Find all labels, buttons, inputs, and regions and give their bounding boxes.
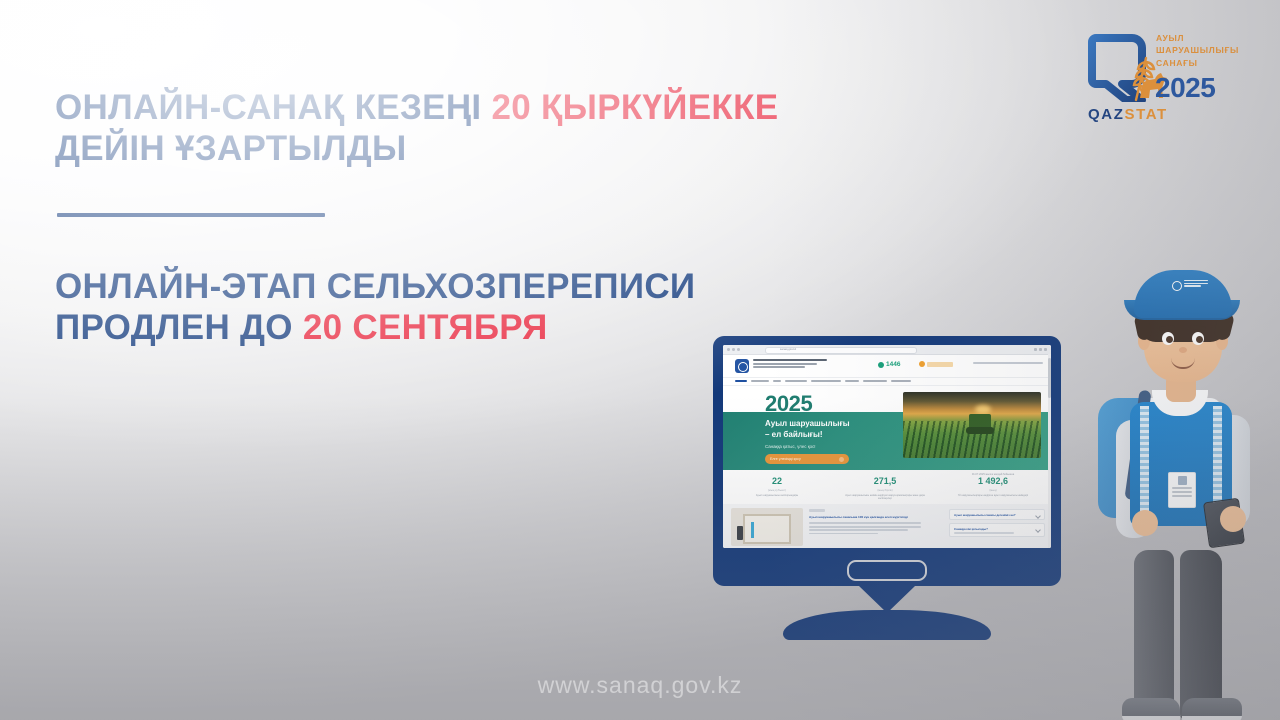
- faq-item[interactable]: Санаққа кім қатысады?: [949, 523, 1045, 537]
- headline-kazakh-part2: ДЕЙІН ҰЗАРТЫЛДЫ: [55, 129, 407, 168]
- site-hotline[interactable]: 1446: [878, 361, 900, 368]
- site-breadcrumb-nav[interactable]: [723, 378, 1051, 386]
- headline-russian-accent: 20 СЕНТЯБРЯ: [303, 308, 548, 347]
- headline-kazakh-part1: ОНЛАЙН-САНАҚ КЕЗЕҢІ: [55, 88, 491, 127]
- monitor-illustration: sanaq.gov.kz 1446: [713, 336, 1061, 646]
- phone-icon: [878, 362, 884, 368]
- right-hand: [1220, 506, 1246, 532]
- site-lang-switch[interactable]: [919, 361, 953, 367]
- baseball-cap: [1134, 270, 1232, 318]
- monitor-body: sanaq.gov.kz 1446: [713, 336, 1061, 586]
- left-hand: [1132, 510, 1158, 536]
- poster-canvas: ОНЛАЙН-САНАҚ КЕЗЕҢІ 20 ҚЫРКҮЙЕККЕ ДЕЙІН …: [0, 0, 1280, 720]
- stat-unit: (мың субъект): [727, 488, 827, 492]
- right-pupil: [1196, 336, 1203, 343]
- cap-logo-icon: [1172, 281, 1182, 291]
- site-org-name: [753, 359, 827, 370]
- id-badge: [1168, 472, 1196, 508]
- news-thumbnail[interactable]: [731, 508, 803, 546]
- faq-accordion[interactable]: Ауыл шаруашылығы санағы дегеніміз не? Са…: [949, 509, 1045, 540]
- left-shoe: [1122, 698, 1180, 720]
- hero-tractor-photo: [903, 392, 1041, 458]
- browser-window-controls[interactable]: [1034, 348, 1047, 351]
- nav-item-home[interactable]: [735, 380, 747, 382]
- logo-subtitle-line2: ШАРУАШЫЛЫҒЫ: [1156, 44, 1234, 56]
- sun-glow: [975, 405, 991, 414]
- browser-url-text: sanaq.gov.kz: [780, 348, 796, 351]
- logo-wordmark: QAZSTAT: [1088, 106, 1168, 123]
- podium-shape: [737, 526, 743, 540]
- monitor-brand-pill: [847, 560, 927, 581]
- site-logo-icon[interactable]: [735, 359, 749, 373]
- nav-item-3[interactable]: [785, 380, 807, 382]
- page-scrollbar[interactable]: [1048, 354, 1051, 548]
- stat-value: 1 492,6: [943, 477, 1043, 487]
- hero-year: 2025: [765, 391, 812, 417]
- stat-value: 22: [727, 477, 827, 487]
- content-cards-row: Ауыл шаруашылығы санағына 100 күн қалған…: [723, 504, 1051, 548]
- browser-toolbar: sanaq.gov.kz: [723, 345, 1051, 355]
- stat-card: 22 (мың субъект) Ауыл шаруашылығы кәсіпо…: [727, 473, 827, 497]
- hero-banner: 2025 Ауыл шаруашылығы – ел байлығы! Сана…: [723, 386, 1051, 470]
- hotline-number: 1446: [886, 361, 900, 368]
- stat-desc: Ауыл шаруашылығы өнімін өндіруші шаруа қ…: [835, 494, 935, 501]
- website-preview: sanaq.gov.kz 1446: [723, 345, 1051, 548]
- qazstat-logo: QAZSTAT АУЫЛ ШАРУАШЫЛЫҒЫ САНАҒЫ 2025: [1086, 26, 1226, 130]
- news-tag: [809, 509, 825, 512]
- nose: [1179, 347, 1187, 353]
- stat-card: 271,5 (мың бірлік) Ауыл шаруашылығы өнім…: [835, 473, 935, 501]
- news-card-text[interactable]: Ауыл шаруашылығы санағына 100 күн қалған…: [809, 509, 921, 536]
- stat-value: 271,5: [835, 477, 935, 487]
- cap-logo-text: [1184, 280, 1208, 288]
- stats-row: 22 (мың субъект) Ауыл шаруашылығы кәсіпо…: [723, 470, 1051, 504]
- monitor-stand-neck: [859, 586, 915, 613]
- logo-wordmark-stat: STAT: [1124, 106, 1167, 123]
- logo-subtitle-line1: АУЫЛ: [1156, 32, 1234, 44]
- site-header: 1446: [723, 355, 1051, 378]
- faq-item[interactable]: Ауыл шаруашылығы санағы дегеніміз не?: [949, 509, 1045, 520]
- monitor-screen: sanaq.gov.kz 1446: [723, 345, 1051, 548]
- site-header-links[interactable]: [973, 362, 1043, 364]
- scrollbar-thumb[interactable]: [1048, 358, 1051, 398]
- nav-item-1[interactable]: [751, 380, 769, 382]
- headline-kazakh: ОНЛАЙН-САНАҚ КЕЗЕҢІ 20 ҚЫРКҮЙЕККЕ ДЕЙІН …: [55, 88, 915, 170]
- nav-item-2[interactable]: [773, 380, 781, 382]
- left-pupil: [1166, 336, 1173, 343]
- browser-address-bar[interactable]: sanaq.gov.kz: [765, 347, 917, 354]
- faq-question: Ауыл шаруашылығы санағы дегеніміз не?: [954, 513, 1040, 517]
- logo-subtitle: АУЫЛ ШАРУАШЫЛЫҒЫ САНАҒЫ: [1156, 32, 1234, 69]
- logo-subtitle-line3: САНАҒЫ: [1156, 57, 1234, 69]
- nav-item-6[interactable]: [863, 380, 887, 382]
- news-title: Ауыл шаруашылығы санағына 100 күн қалған…: [809, 515, 921, 519]
- hero-subtitle: Санаққа қатыс, үлес қос!: [765, 444, 816, 449]
- monitor-stand-base: [783, 610, 991, 640]
- enumerator-character: [1086, 250, 1280, 720]
- stat-unit: (мың): [943, 488, 1043, 492]
- headline-kazakh-accent: 20 ҚЫРКҮЙЕККЕ: [491, 88, 778, 127]
- browser-nav-buttons[interactable]: [727, 348, 740, 351]
- headline-divider: [57, 213, 325, 217]
- headline-kazakh-block: ОНЛАЙН-САНАҚ КЕЗЕҢІ 20 ҚЫРКҮЙЕККЕ ДЕЙІН …: [55, 88, 915, 170]
- footer-website-url[interactable]: www.sanaq.gov.kz: [0, 672, 1280, 699]
- badge-photo: [1178, 476, 1187, 485]
- nav-item-4[interactable]: [811, 380, 841, 382]
- stat-desc: Ауыл шаруашылығы кәсіпорындары: [727, 494, 827, 497]
- stat-desc: Үй шаруашылықтары өндірген ауыл шаруашыл…: [943, 494, 1043, 497]
- right-shoe: [1182, 698, 1242, 720]
- stat-unit: (мың бірлік): [835, 488, 935, 492]
- faq-question: Санаққа кім қатысады?: [954, 527, 1040, 531]
- arrow-right-icon: [839, 457, 844, 462]
- tractor-shape: [969, 414, 991, 432]
- flag-shape: [751, 522, 754, 538]
- nav-item-7[interactable]: [891, 380, 911, 382]
- globe-icon: [919, 361, 925, 367]
- nav-item-5[interactable]: [845, 380, 859, 382]
- hero-title: Ауыл шаруашылығы – ел байлығы!: [765, 419, 885, 440]
- hero-cta-label: Елге үлесімді қосу: [770, 457, 801, 461]
- logo-year: 2025: [1155, 72, 1215, 104]
- hero-cta-button[interactable]: Елге үлесімді қосу: [765, 454, 849, 464]
- stat-card: 01.07.2025 жылға жағдай бойынша 1 492,6 …: [943, 473, 1043, 497]
- logo-wordmark-qaz: QAZ: [1088, 106, 1124, 123]
